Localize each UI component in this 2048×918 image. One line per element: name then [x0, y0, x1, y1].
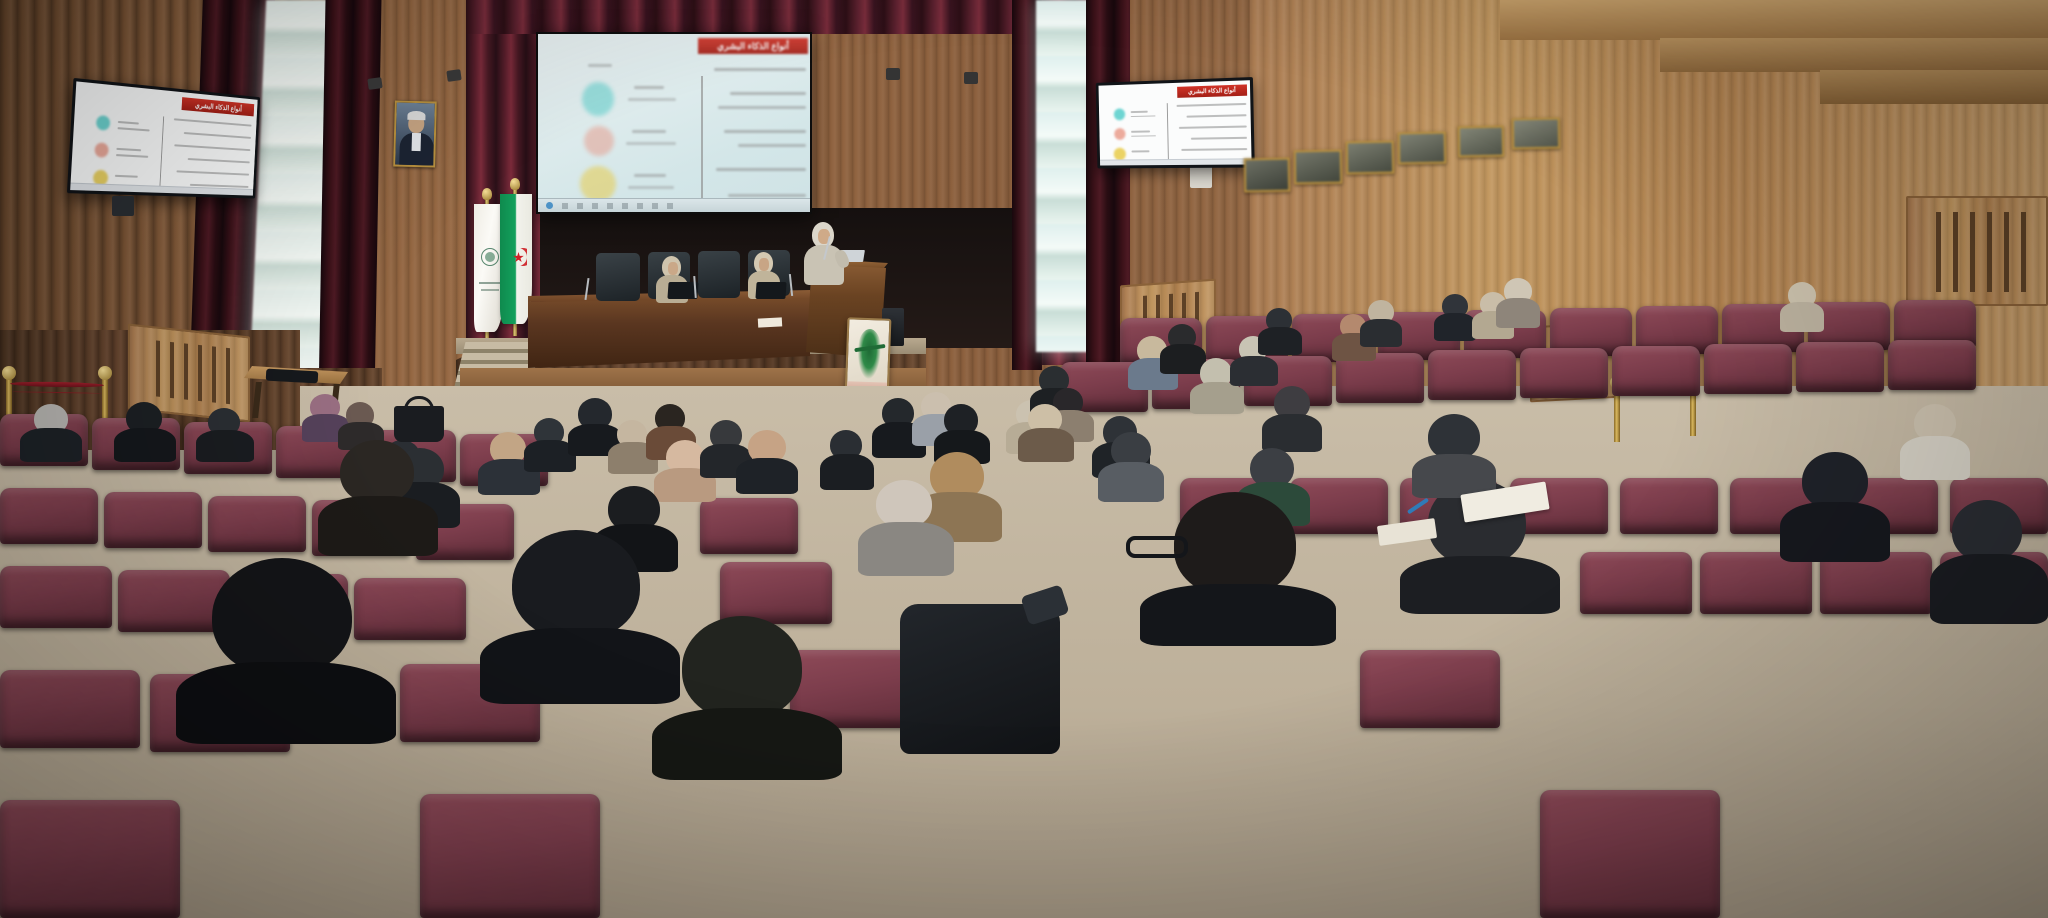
gear-icon-left — [94, 142, 109, 157]
seat[interactable] — [0, 488, 98, 544]
slide-text-right-2 — [1179, 125, 1247, 128]
audience-person — [1780, 452, 1890, 558]
seat[interactable] — [1612, 346, 1700, 396]
gear-icon-right — [1114, 128, 1125, 140]
wall-tv-right[interactable]: أنواع الذكاء البشري — [1096, 77, 1255, 168]
seat-row-g — [0, 790, 2048, 918]
seat[interactable] — [1360, 650, 1500, 728]
wall-photo-3 — [1346, 141, 1395, 175]
slide-banner-main: أنواع الذكاء البشري — [698, 38, 808, 54]
slide-text-left-4 — [176, 170, 249, 175]
seat[interactable] — [208, 496, 306, 552]
stanchion-1-ball — [2, 366, 16, 380]
seat[interactable] — [1428, 350, 1516, 400]
slide-text-main-4 — [738, 144, 806, 147]
wall-photo-1 — [1244, 158, 1291, 193]
taskbar-icon-8[interactable] — [667, 203, 673, 209]
person-body — [318, 496, 438, 556]
person-body — [196, 430, 254, 462]
icon-label-main-3b — [628, 186, 674, 189]
audience-person — [1262, 386, 1322, 450]
wall-photo-2 — [1294, 150, 1343, 185]
audience-person — [1098, 432, 1164, 500]
seat[interactable] — [720, 562, 832, 624]
person-body — [1780, 302, 1824, 332]
person-head — [212, 558, 352, 676]
calligraphy-glyph — [855, 329, 883, 384]
gear-icon-main — [584, 126, 614, 156]
person-head — [340, 440, 414, 504]
divider-slots-right-3 — [1924, 212, 2034, 292]
taskbar-icon-1[interactable] — [562, 203, 568, 209]
icon-label-left-2b — [116, 154, 148, 157]
audience-person — [1018, 404, 1074, 460]
slide-text-left-2 — [174, 144, 250, 151]
seat-row-d — [0, 478, 2048, 560]
wall-photo-4 — [1398, 132, 1447, 165]
icon-label-main-1b — [628, 98, 676, 101]
audience-person — [1434, 294, 1476, 338]
slide-divider-left — [159, 116, 164, 190]
seat[interactable] — [1580, 552, 1692, 614]
slide-text-right-4 — [1181, 148, 1247, 150]
slide-text-main-6 — [728, 194, 806, 197]
icon-label-main-1 — [634, 86, 664, 89]
wall-speaker-left — [367, 77, 382, 90]
start-icon[interactable] — [546, 202, 553, 209]
panelist-1-face — [668, 262, 678, 275]
wall-speaker-center — [446, 69, 461, 82]
person-body — [1400, 556, 1560, 614]
panel-chair-3 — [698, 251, 740, 298]
audience-person — [1258, 308, 1302, 352]
wall-tv-left[interactable]: أنواع الذكاء البشري — [67, 78, 260, 199]
slide-text-main-2 — [718, 106, 806, 109]
icon-label-right-2 — [1131, 130, 1150, 132]
slide-text-main-5 — [716, 168, 806, 171]
person-body — [1434, 313, 1476, 341]
panel-chair-1 — [596, 253, 640, 301]
brain-icon-right — [1114, 108, 1125, 120]
person-body — [1900, 436, 1970, 480]
audience-person — [1900, 404, 1970, 476]
divider-slots-left — [146, 339, 234, 404]
audience-person — [196, 408, 254, 460]
person-body — [1018, 428, 1074, 462]
seat[interactable] — [1520, 348, 1608, 398]
table-paper — [758, 317, 782, 327]
right-window-sill-box — [1190, 166, 1212, 188]
slide-text-main-3 — [724, 130, 806, 133]
icon-label-left-3 — [115, 175, 138, 178]
slide-text-right-0 — [1176, 103, 1246, 107]
taskbar-icon-4[interactable] — [607, 203, 613, 209]
brain-icon-left — [96, 115, 111, 131]
audience-person — [20, 404, 82, 460]
audience-person — [1496, 278, 1540, 324]
presentation-taskbar[interactable] — [538, 198, 810, 212]
right-wall-step-trim-2 — [1660, 38, 2048, 72]
seat[interactable] — [0, 566, 112, 628]
audience-person — [652, 616, 842, 776]
slide-top-label-main — [588, 64, 612, 67]
backpack — [900, 604, 1060, 754]
auditorium-photo: أنواع الذكاء البشري — [0, 0, 2048, 918]
institution-flag-text — [479, 282, 501, 284]
audience-person — [176, 558, 396, 738]
seat[interactable] — [0, 670, 140, 748]
person-body — [1262, 414, 1322, 452]
person-head — [1952, 500, 2022, 562]
wall-photo-5 — [1458, 126, 1505, 158]
person-head — [682, 616, 802, 720]
eyeglasses-icon — [1126, 536, 1188, 558]
framed-portrait — [393, 100, 437, 167]
slide-text-main-0 — [714, 68, 806, 71]
seat[interactable] — [1704, 344, 1792, 394]
network-icon-main — [580, 166, 616, 202]
icon-label-main-3 — [634, 174, 666, 177]
audience-person — [318, 440, 438, 552]
icon-label-main-2b — [626, 142, 676, 145]
person-body — [1190, 382, 1244, 414]
handbag — [394, 406, 444, 442]
seat[interactable] — [1540, 790, 1720, 918]
panelist-2-face — [759, 258, 769, 271]
taskbar-icon-5[interactable] — [622, 203, 628, 209]
icon-label-right-1b — [1131, 115, 1156, 117]
seat[interactable] — [104, 492, 202, 548]
person-body — [858, 522, 954, 576]
slide-banner-left: أنواع الذكاء البشري — [182, 97, 255, 116]
slide-divider-main — [701, 76, 703, 200]
person-body — [1780, 502, 1890, 562]
slide-text-right-3 — [1191, 137, 1247, 140]
main-projection-screen[interactable]: أنواع الذكاء البشري — [536, 32, 812, 214]
audience-person — [1780, 282, 1824, 328]
seat-row-c-left — [0, 414, 560, 488]
brain-icon-main — [582, 82, 614, 116]
laptop-2[interactable] — [755, 282, 786, 299]
icon-label-left-1b — [118, 127, 150, 131]
icon-label-main-2 — [632, 130, 666, 133]
flag-finial-right — [510, 178, 520, 190]
person-body — [1496, 298, 1540, 328]
person-body — [480, 628, 680, 704]
seat[interactable] — [1888, 340, 1976, 390]
ministry-emblem-inner — [485, 252, 495, 262]
audience-person — [114, 402, 176, 460]
audience-person — [736, 430, 798, 492]
person-body — [652, 708, 842, 780]
person-head — [512, 530, 640, 640]
seat[interactable] — [1620, 478, 1718, 534]
person-body — [1230, 356, 1278, 386]
portrait-hair — [407, 111, 425, 120]
person-body — [176, 662, 396, 744]
slide-divider-right — [1167, 103, 1169, 161]
taskbar-icon-7[interactable] — [652, 203, 658, 209]
slide-text-left-0 — [174, 118, 252, 126]
icon-label-left-2 — [116, 148, 141, 152]
person-body — [1258, 327, 1302, 355]
panel-table — [528, 294, 810, 368]
icon-label-left-1 — [118, 121, 139, 125]
seat[interactable] — [700, 498, 798, 554]
person-head — [1174, 492, 1296, 596]
flag-finial-left — [482, 188, 492, 200]
person-head — [876, 480, 932, 528]
wall-speaker-right-2 — [964, 72, 978, 84]
tv-taskbar-right — [1100, 158, 1252, 165]
person-body — [1930, 554, 2048, 624]
institution-flag-text-2 — [481, 289, 499, 291]
audience-person — [1140, 492, 1336, 642]
wall-speaker-right-1 — [886, 68, 900, 80]
audience-person — [858, 480, 954, 572]
curtain-left-inner — [319, 0, 382, 400]
portrait-shirt — [412, 133, 421, 151]
slide-text-left-3 — [188, 158, 250, 163]
icon-label-right-1 — [1131, 111, 1148, 113]
audience-person — [1360, 300, 1402, 344]
slide-text-right-1 — [1186, 114, 1246, 117]
person-body — [1140, 584, 1336, 646]
right-wall-step-trim — [1500, 0, 2048, 40]
taskbar-icon-6[interactable] — [637, 203, 643, 209]
taskbar-icon-2[interactable] — [577, 203, 583, 209]
wall-photo-6 — [1512, 118, 1561, 150]
slide-banner-right: أنواع الذكاء البشري — [1177, 84, 1247, 97]
icon-label-right-3 — [1131, 150, 1149, 152]
stanchion-2-ball — [98, 366, 112, 380]
audience-person — [1930, 500, 2048, 620]
right-wall-step-trim-3 — [1820, 70, 2048, 104]
person-body — [1360, 319, 1402, 347]
icon-label-right-2b — [1131, 135, 1156, 137]
person-body — [20, 428, 82, 462]
tv-left-mount — [112, 196, 134, 216]
person-body — [736, 458, 798, 494]
seat[interactable] — [1796, 342, 1884, 392]
person-body — [114, 428, 176, 462]
seat[interactable] — [420, 794, 600, 918]
slide-text-left-1 — [184, 132, 251, 139]
taskbar-icon-3[interactable] — [592, 203, 598, 209]
seat[interactable] — [0, 800, 180, 918]
slide-text-main-1 — [730, 92, 806, 95]
audience-person — [480, 530, 680, 700]
audience-person — [1412, 414, 1496, 494]
